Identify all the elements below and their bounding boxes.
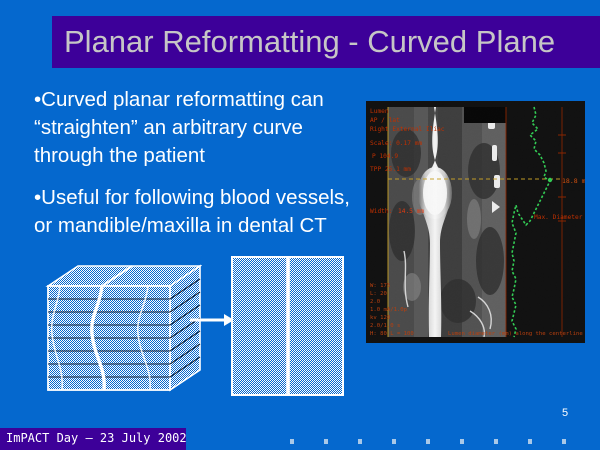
ct-overlay-bl-1: W: 175 [370, 283, 390, 289]
straightened-plane-diagram [231, 256, 344, 396]
footer-dot [562, 439, 566, 444]
ct-overlay-line-4: Scale: 0.17 mm [370, 140, 422, 147]
ct-overlay-bl-7: H: 80 L = 100 [370, 331, 414, 337]
presentation-slide: Planar Reformatting - Curved Plane •Curv… [0, 0, 600, 450]
flat-plane-svg [231, 256, 344, 396]
ct-overlay-bl-3: 2.0 [370, 299, 380, 305]
footer-dot [494, 439, 498, 444]
ct-overlay-width-label: Width: [370, 208, 392, 215]
ct-bottom-caption: Lumen diameter (mm) along the centerline [448, 331, 583, 337]
ct-max-value-label: 18.8 m [562, 177, 585, 185]
footer-dot [324, 439, 328, 444]
bullet-item-1: •Curved planar reformatting can “straigh… [34, 86, 364, 170]
title-banner: Planar Reformatting - Curved Plane [52, 16, 600, 68]
footer-dot [358, 439, 362, 444]
bullet-item-2: •Useful for following blood vessels, or … [34, 184, 364, 240]
footer-dot [392, 439, 396, 444]
ct-overlay-width-value: 14.5 mm [398, 208, 424, 215]
ct-overlay-bl-4: 1.0 mA/1.0p [370, 307, 408, 313]
ct-image-svg: Lumen AP / lat Right External Iliac Scal… [366, 101, 585, 343]
footer-dot [460, 439, 464, 444]
footer-text: ImPACT Day – 23 July 2002 [6, 431, 187, 445]
transform-arrow [190, 312, 234, 328]
footer-dot-row [290, 439, 590, 447]
footer-bar: ImPACT Day – 23 July 2002 [0, 428, 186, 450]
ct-overlay-line-3: Right External Iliac [370, 126, 445, 133]
ct-series-label: Max. Diameter [534, 214, 583, 221]
ct-overlay-bl-6: 2.0/1.0 s [370, 323, 400, 329]
ct-overlay-line-1: Lumen [370, 108, 389, 115]
footer-dot [426, 439, 430, 444]
ct-overlay-bl-2: L: 20 [370, 291, 387, 297]
ct-overlay-line-5: P 104.9 [372, 153, 398, 160]
ct-curved-reformat-image: Lumen AP / lat Right External Iliac Scal… [366, 101, 585, 343]
footer-dot [528, 439, 532, 444]
ct-overlay-line-6: TPP 25.1 mm [370, 166, 411, 173]
footer-dot [290, 439, 294, 444]
slice-stack-svg [30, 264, 202, 396]
arrow-right-icon [190, 312, 234, 328]
body-content: •Curved planar reformatting can “straigh… [34, 86, 364, 254]
page-title: Planar Reformatting - Curved Plane [64, 20, 598, 64]
ct-overlay-line-2: AP / lat [370, 117, 400, 124]
page-number: 5 [562, 407, 568, 419]
volume-slice-stack-diagram [30, 264, 202, 396]
ct-overlay-bl-5: kv 120 [370, 315, 390, 321]
